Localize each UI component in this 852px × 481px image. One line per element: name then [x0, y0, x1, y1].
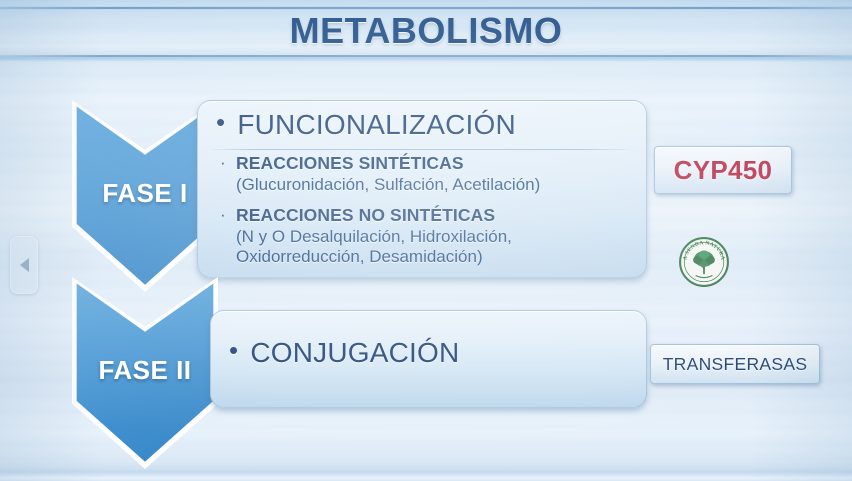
- phase-panel-fase-1: • FUNCIONALIZACIÓN · REACCIONES SINTÉTIC…: [197, 100, 647, 278]
- title-rule-bottom: [0, 55, 852, 57]
- title-band: METABOLISMO: [0, 0, 852, 58]
- phase-1-heading-text: FUNCIONALIZACIÓN: [237, 109, 516, 141]
- page-title: METABOLISMO: [0, 10, 852, 52]
- phase-badge-fase-2: FASE II: [72, 277, 218, 469]
- phase-2-heading: • CONJUGACIÓN: [229, 337, 459, 369]
- enzyme-tag-label: CYP450: [674, 155, 773, 186]
- enzyme-tag-transferasas: TRANSFERASAS: [650, 344, 820, 384]
- previous-slide-button[interactable]: [10, 236, 38, 294]
- panel-separator: [212, 149, 630, 150]
- chevron-left-icon: [20, 258, 29, 272]
- phase-1-heading: • FUNCIONALIZACIÓN: [216, 109, 516, 141]
- sub-bullet-dot-icon: ·: [220, 153, 228, 173]
- sub-item-detail-line-1: (N y O Desalquilación, Hidroxilación,: [236, 227, 512, 247]
- enzyme-tag-cyp450: CYP450: [654, 146, 792, 194]
- sub-item-row: · REACCIONES NO SINTÉTICAS: [220, 205, 512, 226]
- sub-item-detail-line-2: Oxidorreducción, Desamidación): [236, 247, 512, 267]
- bullet-dot-icon: •: [216, 109, 225, 135]
- sub-item-head: REACCIONES SINTÉTICAS: [236, 153, 464, 174]
- sub-item-head: REACCIONES NO SINTÉTICAS: [236, 205, 495, 226]
- sub-bullet-dot-icon: ·: [220, 205, 228, 225]
- senda-natural-logo: LA SENDA NATURAL: [676, 236, 732, 288]
- enzyme-tag-label: TRANSFERASAS: [663, 354, 808, 375]
- sub-item-detail: (Glucuronidación, Sulfación, Acetilación…: [236, 175, 540, 195]
- sub-item-no-sinteticas: · REACCIONES NO SINTÉTICAS (N y O Desalq…: [220, 205, 512, 267]
- title-rule-top: [0, 7, 852, 9]
- phase-badge-label: FASE II: [72, 355, 218, 386]
- bullet-dot-icon: •: [229, 337, 238, 363]
- phase-panel-fase-2: • CONJUGACIÓN: [210, 310, 647, 408]
- sub-item-sinteticas: · REACCIONES SINTÉTICAS (Glucuronidación…: [220, 153, 540, 195]
- sub-item-row: · REACCIONES SINTÉTICAS: [220, 153, 540, 174]
- slide-canvas: METABOLISMO FASE I • FUNCIONALIZACIÓN · …: [0, 0, 852, 481]
- phase-2-heading-text: CONJUGACIÓN: [250, 337, 459, 369]
